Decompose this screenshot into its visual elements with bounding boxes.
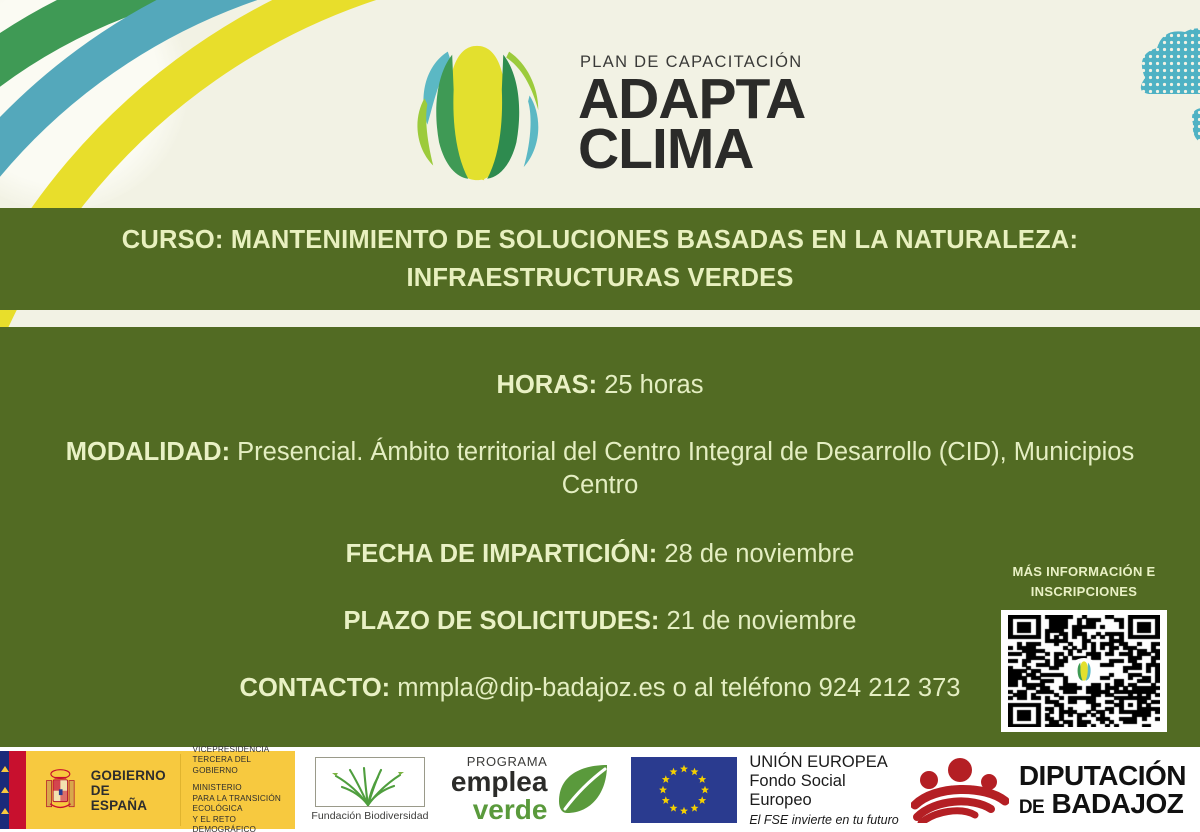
diputacion-line1: DIPUTACIÓN bbox=[1019, 762, 1186, 790]
detail-row-horas: HORAS: 25 horas bbox=[0, 369, 1200, 402]
verde-word: verde bbox=[451, 796, 548, 824]
footer-logos-bar: GOBIERNO DE ESPAÑA VICEPRESIDENCIA TERCE… bbox=[0, 747, 1200, 832]
logo-programa-emplea-verde: PROGRAMA emplea verde bbox=[443, 747, 621, 832]
green-leaf-icon bbox=[551, 759, 613, 821]
gobierno-dept-line3: MINISTERIO bbox=[193, 783, 295, 794]
qr-caption-line2: INSCRIPCIONES bbox=[1001, 582, 1167, 602]
fundacion-logo-frame bbox=[315, 757, 425, 807]
gobierno-department: VICEPRESIDENCIA TERCERA DEL GOBIERNO MIN… bbox=[193, 745, 295, 832]
diputacion-badajoz-word: BADAJOZ bbox=[1052, 788, 1184, 819]
eu-text-block: UNIÓN EUROPEA Fondo Social Europeo El FS… bbox=[749, 753, 911, 827]
spain-coat-of-arms-icon bbox=[40, 759, 81, 821]
detail-value-modalidad: Presencial. Ámbito territorial del Centr… bbox=[230, 438, 1134, 499]
adapta-clima-mini-icon bbox=[1073, 660, 1095, 682]
spain-flag-blue-band bbox=[0, 751, 9, 829]
diputacion-line2: DE BADAJOZ bbox=[1019, 790, 1186, 818]
detail-label-fecha: FECHA DE IMPARTICIÓN: bbox=[346, 540, 658, 568]
brand-name-line2: CLIMA bbox=[578, 124, 805, 174]
qr-section: MÁS INFORMACIÓN E INSCRIPCIONES bbox=[1001, 562, 1167, 732]
detail-value-horas: 25 horas bbox=[597, 371, 703, 399]
logo-fundacion-biodiversidad: Fundación Biodiversidad bbox=[305, 747, 435, 832]
emplea-word: emplea bbox=[451, 768, 548, 796]
logo-gobierno-de-espana: GOBIERNO DE ESPAÑA VICEPRESIDENCIA TERCE… bbox=[0, 751, 295, 829]
brand-name-line1: ADAPTA bbox=[578, 74, 805, 124]
gobierno-title: GOBIERNO DE ESPAÑA bbox=[91, 768, 166, 813]
gobierno-title-line2: DE ESPAÑA bbox=[91, 783, 166, 813]
logo-union-europea: UNIÓN EUROPEA Fondo Social Europeo El FS… bbox=[631, 747, 911, 832]
detail-label-contacto: CONTACTO: bbox=[240, 674, 391, 702]
gobierno-title-line1: GOBIERNO bbox=[91, 768, 166, 783]
cream-divider-strip bbox=[0, 310, 1200, 327]
diputacion-de-word: DE bbox=[1019, 797, 1044, 818]
qr-code-container[interactable] bbox=[1001, 610, 1167, 732]
adapta-clima-leaf-sphere-icon bbox=[404, 40, 550, 186]
eu-stars-icon bbox=[631, 757, 737, 823]
qr-center-logo bbox=[1069, 658, 1099, 684]
course-title: CURSO: MANTENIMIENTO DE SOLUCIONES BASAD… bbox=[45, 221, 1155, 297]
detail-label-plazo: PLAZO DE SOLICITUDES: bbox=[344, 607, 660, 635]
course-title-band: CURSO: MANTENIMIENTO DE SOLUCIONES BASAD… bbox=[0, 208, 1200, 310]
badajoz-people-arcs-icon bbox=[911, 757, 1009, 823]
eu-line1: UNIÓN EUROPEA bbox=[749, 753, 911, 772]
detail-value-contacto: mmpla@dip-badajoz.es o al teléfono 924 2… bbox=[390, 674, 960, 702]
course-title-line2: INFRAESTRUCTURAS VERDES bbox=[45, 259, 1155, 297]
gobierno-dept-line2: TERCERA DEL GOBIERNO bbox=[193, 755, 295, 776]
gobierno-dept-line4: PARA LA TRANSICIÓN ECOLÓGICA bbox=[193, 794, 295, 815]
adapta-clima-logo: PLAN DE CAPACITACIÓN ADAPTA CLIMA bbox=[404, 40, 805, 186]
arc-stripes-strip-icon bbox=[0, 310, 1200, 327]
dotted-cloud-decoration-icon bbox=[1105, 18, 1200, 158]
spain-flag-red-band bbox=[9, 751, 26, 829]
logo-diputacion-badajoz: DIPUTACIÓN DE BADAJOZ bbox=[911, 747, 1200, 832]
course-title-line1: CURSO: MANTENIMIENTO DE SOLUCIONES BASAD… bbox=[45, 221, 1155, 259]
gobierno-dept-line5: Y EL RETO DEMOGRÁFICO bbox=[193, 815, 295, 832]
qr-caption: MÁS INFORMACIÓN E INSCRIPCIONES bbox=[1001, 562, 1167, 602]
eu-line2: Fondo Social Europeo bbox=[749, 772, 911, 810]
eu-line3: El FSE invierte en tu futuro bbox=[749, 813, 911, 827]
detail-value-fecha: 28 de noviembre bbox=[657, 540, 854, 568]
fundacion-caption: Fundación Biodiversidad bbox=[311, 810, 428, 822]
detail-value-plazo: 21 de noviembre bbox=[659, 607, 856, 635]
detail-row-modalidad: MODALIDAD: Presencial. Ámbito territoria… bbox=[0, 436, 1200, 502]
european-union-flag-icon bbox=[631, 757, 737, 823]
header-glow-decoration bbox=[0, 0, 190, 210]
detail-label-horas: HORAS: bbox=[497, 371, 598, 399]
qr-caption-line1: MÁS INFORMACIÓN E bbox=[1001, 562, 1167, 582]
emplea-text-block: PROGRAMA emplea verde bbox=[451, 755, 548, 824]
detail-label-modalidad: MODALIDAD: bbox=[66, 438, 230, 466]
poster-canvas: PLAN DE CAPACITACIÓN ADAPTA CLIMA CURSO:… bbox=[0, 0, 1200, 832]
spain-flag-icon bbox=[0, 751, 26, 829]
diputacion-text-block: DIPUTACIÓN DE BADAJOZ bbox=[1019, 762, 1186, 818]
gobierno-dept-line1: VICEPRESIDENCIA bbox=[193, 745, 295, 756]
grass-tuft-icon bbox=[324, 764, 416, 806]
gobierno-divider bbox=[180, 754, 181, 826]
